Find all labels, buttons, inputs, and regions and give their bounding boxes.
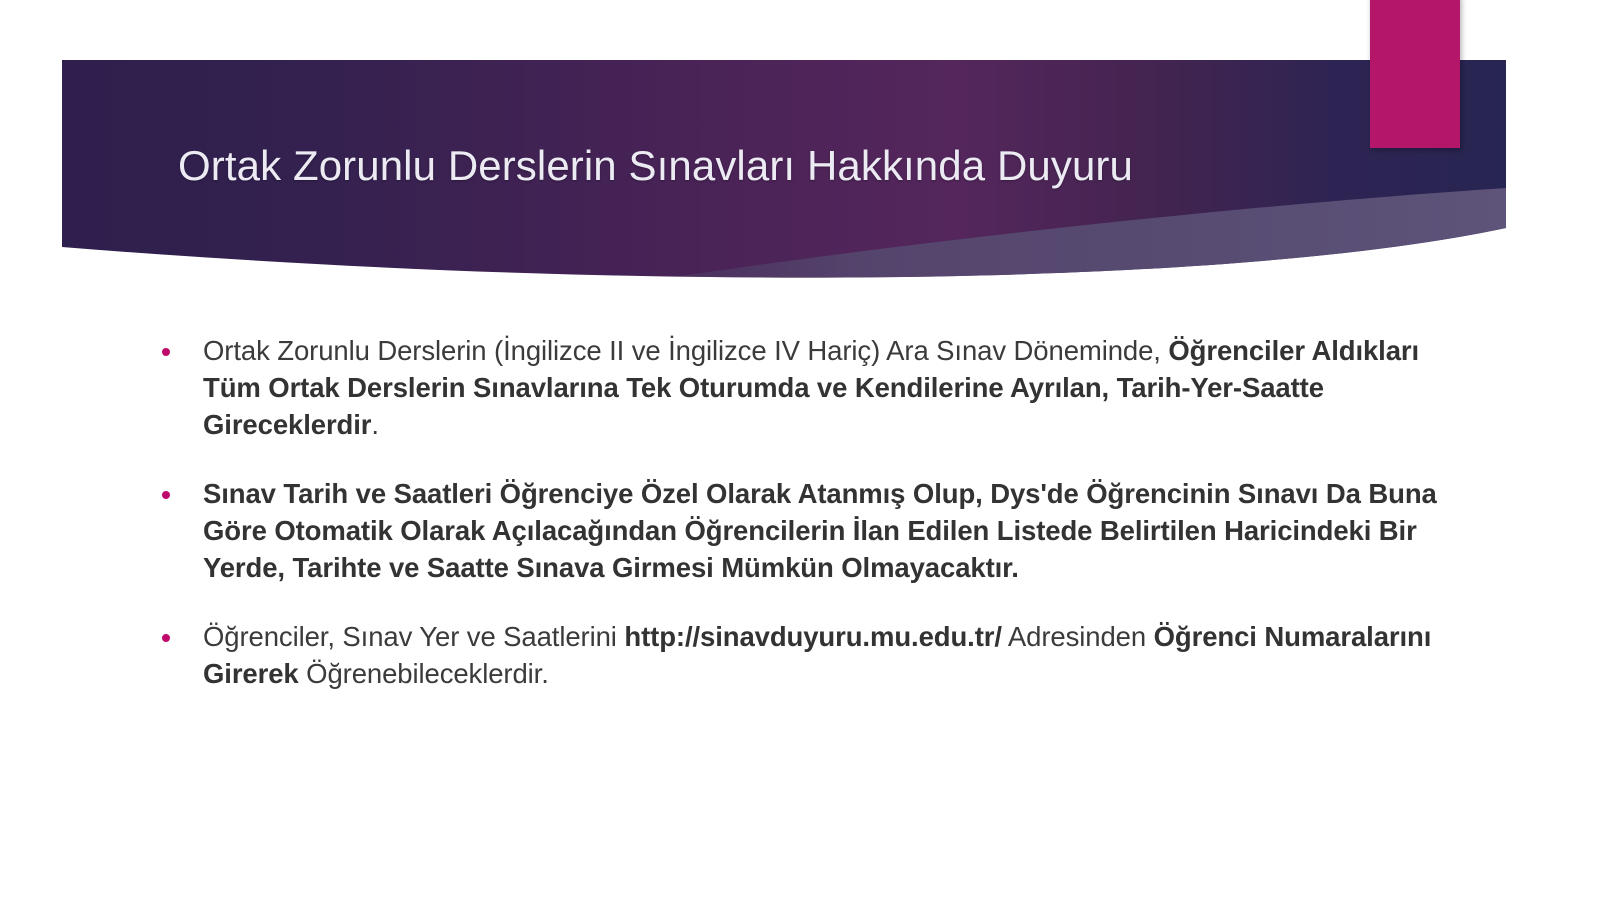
bullet-marker [148,619,203,642]
bullet-dot-icon [162,491,170,499]
bullet-marker [148,333,203,356]
bullet-marker [148,476,203,499]
list-item: Sınav Tarih ve Saatleri Öğrenciye Özel O… [148,476,1478,587]
bullet-1-segment-3: . [371,409,379,440]
bullet-3-text: Öğrenciler, Sınav Yer ve Saatlerini http… [203,619,1478,693]
bullet-1-segment-1: Ortak Zorunlu Derslerin (İngilizce II ve… [203,335,1168,366]
slide-title: Ortak Zorunlu Derslerin Sınavları Hakkın… [178,142,1358,189]
bullet-dot-icon [162,348,170,356]
bullet-2-text: Sınav Tarih ve Saatleri Öğrenciye Özel O… [203,476,1478,587]
bullet-3-segment-1: Öğrenciler, Sınav Yer ve Saatlerini [203,621,624,652]
presentation-slide: Ortak Zorunlu Derslerin Sınavları Hakkın… [0,0,1600,900]
pink-accent-block [1370,0,1460,148]
exam-schedule-url[interactable]: http://sinavduyuru.mu.edu.tr/ [624,621,1002,652]
list-item: Ortak Zorunlu Derslerin (İngilizce II ve… [148,333,1478,444]
bullet-3-segment-5: Öğrenebileceklerdir. [299,658,549,689]
bullet-list: Ortak Zorunlu Derslerin (İngilizce II ve… [148,333,1478,693]
bullet-2-segment-1: Sınav Tarih ve Saatleri Öğrenciye Özel O… [203,478,1437,583]
bullet-3-segment-3: Adresinden [1002,621,1154,652]
bullet-1-text: Ortak Zorunlu Derslerin (İngilizce II ve… [203,333,1478,444]
bullet-dot-icon [162,634,170,642]
list-item: Öğrenciler, Sınav Yer ve Saatlerini http… [148,619,1478,693]
